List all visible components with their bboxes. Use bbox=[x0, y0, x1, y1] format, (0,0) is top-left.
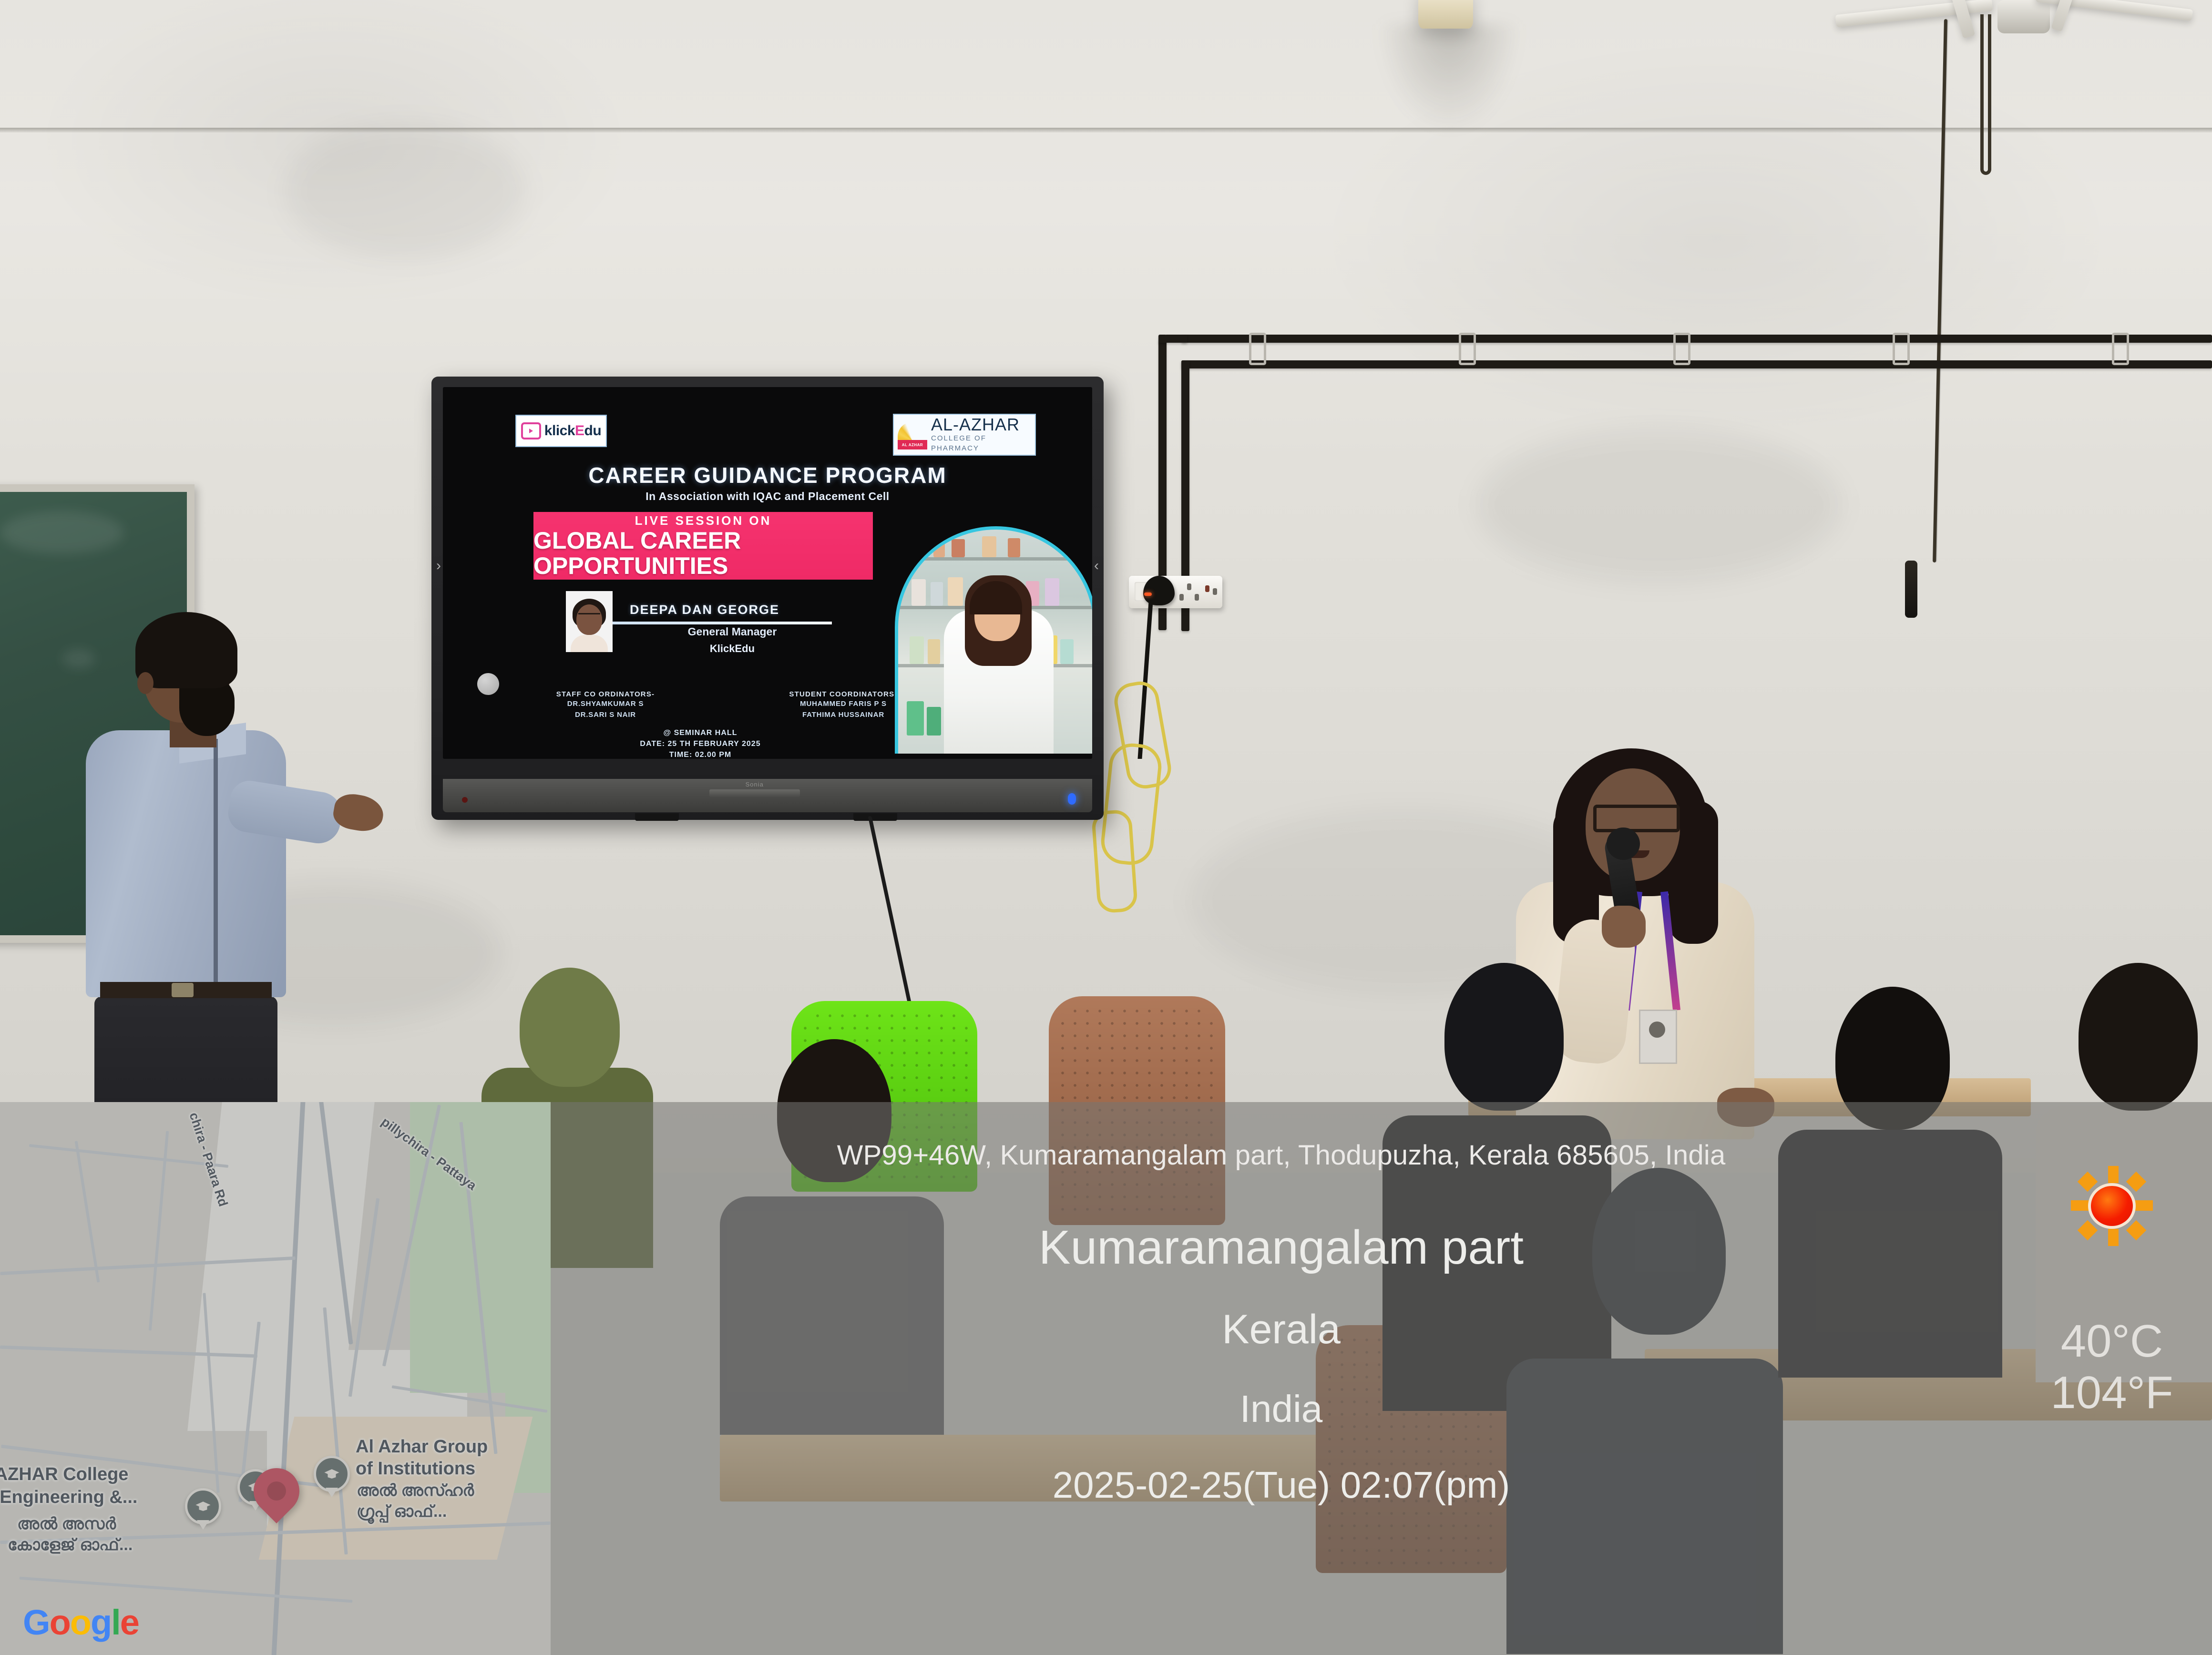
speaker-divider bbox=[613, 622, 832, 624]
speaker-role: General Manager bbox=[630, 625, 835, 638]
wall-mounted-display[interactable]: klickEdu AL AZHAR AL-AZHAR COLLEGE OF PH… bbox=[431, 377, 1104, 820]
staff-coordinator-name: DR.SARI S NAIR bbox=[527, 709, 684, 720]
ir-receiver bbox=[462, 797, 468, 803]
conduit-pipe-top bbox=[1181, 335, 2212, 343]
slide-headline: GLOBAL CAREER OPPORTUNITIES bbox=[533, 528, 873, 578]
sun-icon bbox=[2074, 1168, 2150, 1244]
google-logo: Google bbox=[23, 1602, 139, 1643]
event-time: TIME: 02.00 PM bbox=[567, 749, 834, 759]
pipe-clamp bbox=[1249, 333, 1266, 365]
pipe-clamp bbox=[1459, 333, 1476, 365]
staff-coordinators-heading: STAFF CO ORDINATORS- bbox=[527, 690, 684, 698]
display-bezel-bottom: Sonia bbox=[443, 779, 1092, 812]
alazhar-name: AL-AZHAR bbox=[931, 415, 1020, 434]
yellow-cable-coil bbox=[1091, 809, 1138, 913]
conduit-elbow bbox=[1158, 335, 1187, 343]
slide-title: CAREER GUIDANCE PROGRAM bbox=[443, 462, 1092, 488]
display-brand-label: Sonia bbox=[746, 781, 764, 788]
sunburst-icon: AL AZHAR bbox=[898, 420, 927, 450]
ceiling-light-shadow bbox=[1378, 24, 1521, 133]
live-session-label: LIVE SESSION ON bbox=[635, 513, 772, 528]
display-screen: klickEdu AL AZHAR AL-AZHAR COLLEGE OF PH… bbox=[443, 387, 1092, 759]
weather-widget: 40°C 104°F bbox=[2012, 1168, 2212, 1418]
chevron-right-icon[interactable]: › bbox=[436, 559, 441, 573]
speaker-portrait bbox=[566, 591, 613, 652]
gps-address: WP99+46W, Kumaramangalam part, Thodupuzh… bbox=[551, 1139, 2012, 1171]
wall-seam bbox=[0, 128, 2212, 133]
power-led-indicator bbox=[1144, 593, 1152, 596]
temperature-fahrenheit: 104°F bbox=[2012, 1367, 2212, 1419]
klickedu-wordmark: klickEdu bbox=[544, 423, 601, 439]
ceiling-fan-mount bbox=[1835, 0, 2198, 57]
power-indicator-led bbox=[1068, 793, 1076, 805]
display-mount-foot bbox=[635, 813, 679, 821]
event-venue: @ SEMINAR HALL bbox=[567, 727, 834, 738]
presentation-slide: klickEdu AL AZHAR AL-AZHAR COLLEGE OF PH… bbox=[443, 387, 1092, 759]
klickedu-mark-icon bbox=[521, 422, 541, 439]
speaker-organization: KlickEdu bbox=[630, 643, 835, 655]
wire-plug bbox=[1905, 561, 1917, 618]
conduit-pipe-bottom bbox=[1181, 360, 2212, 368]
map-thumbnail[interactable]: chira - Paara Rd pillychira - Pattaya -A… bbox=[0, 1102, 551, 1655]
pharmacy-photo bbox=[895, 526, 1092, 754]
alazhar-tagline: COLLEGE OF PHARMACY bbox=[931, 434, 986, 452]
staff-coordinators: STAFF CO ORDINATORS- DR.SHYAMKUMAR S DR.… bbox=[527, 690, 684, 721]
screen-knob bbox=[477, 673, 499, 695]
hanging-wire-loop bbox=[1980, 14, 1991, 175]
slide-headline-banner: LIVE SESSION ON GLOBAL CAREER OPPORTUNIT… bbox=[533, 512, 873, 580]
gps-datetime: 2025-02-25(Tue) 02:07(pm) bbox=[551, 1463, 2012, 1507]
ceiling-light-fixture bbox=[1418, 0, 1473, 29]
pipe-clamp bbox=[1673, 333, 1690, 365]
klickedu-logo: klickEdu bbox=[515, 415, 607, 447]
temperature-celsius: 40°C bbox=[2012, 1316, 2212, 1367]
slide-subtitle: In Association with IQAC and Placement C… bbox=[443, 490, 1092, 503]
gps-city: Kumaramangalam part bbox=[551, 1220, 2012, 1275]
display-mount-foot bbox=[853, 813, 897, 821]
event-details: @ SEMINAR HALL DATE: 25 TH FEBRUARY 2025… bbox=[567, 727, 834, 759]
gps-state: Kerala bbox=[551, 1306, 2012, 1353]
event-date: DATE: 25 TH FEBRUARY 2025 bbox=[567, 738, 834, 749]
chevron-left-icon[interactable]: ‹ bbox=[1094, 559, 1099, 573]
speaker-name: DEEPA DAN GEORGE bbox=[630, 603, 779, 617]
alazhar-logo: AL AZHAR AL-AZHAR COLLEGE OF PHARMACY bbox=[893, 414, 1036, 456]
gps-country: India bbox=[551, 1387, 2012, 1431]
pipe-clamp bbox=[1893, 333, 1910, 365]
photo-canvas: klickEdu AL AZHAR AL-AZHAR COLLEGE OF PH… bbox=[0, 0, 2212, 1655]
pipe-clamp bbox=[2112, 333, 2129, 365]
staff-coordinator-name: DR.SHYAMKUMAR S bbox=[527, 698, 684, 709]
